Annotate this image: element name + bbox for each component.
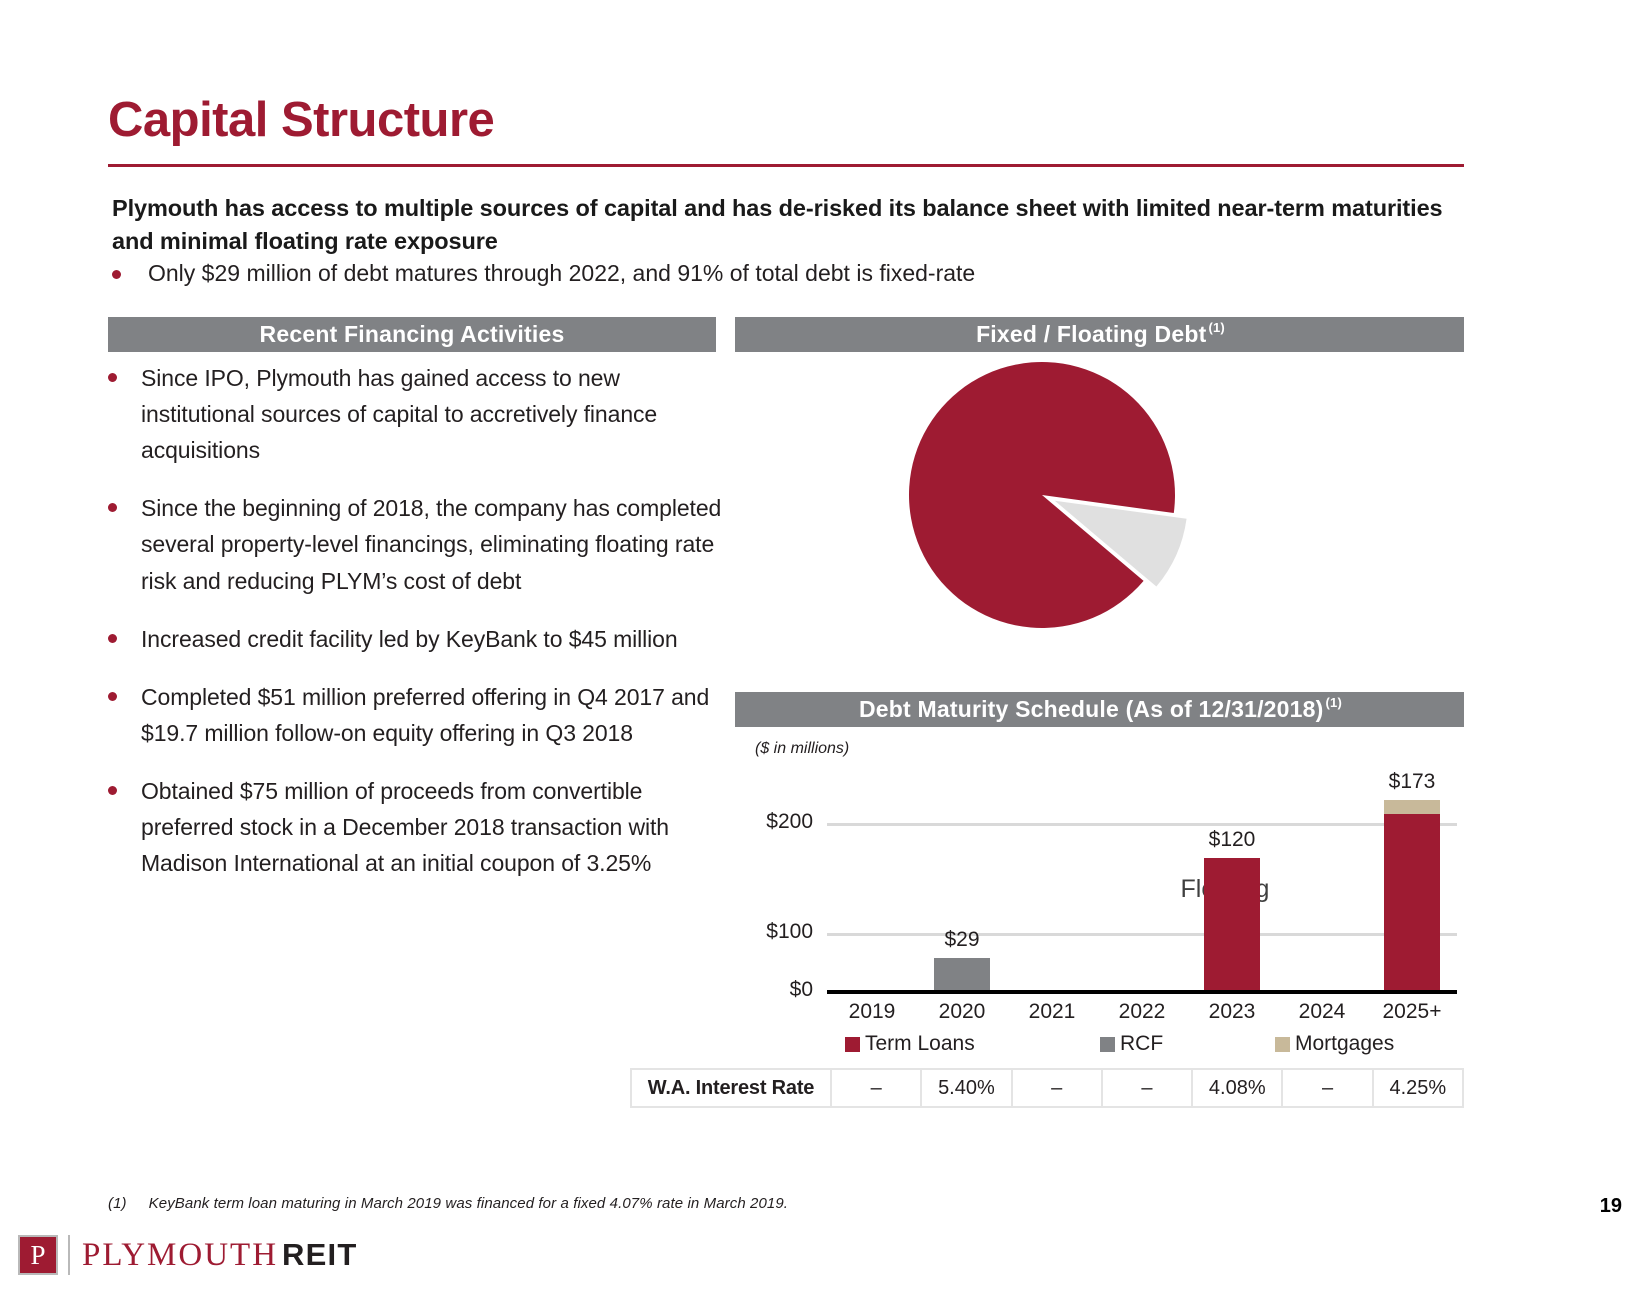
legend-swatch-icon [1100,1037,1115,1052]
fixed-floating-pie-chart: Fixed 91% Floating 9% [735,355,1464,685]
list-item: Obtained $75 million of proceeds from co… [108,773,733,881]
debt-maturity-bar-chart: ($ in millions) $200 $100 $0 $29$120$173… [735,732,1464,1062]
rate-table-cell-2021: – [1013,1070,1103,1106]
legend-item-rcf: RCF [1100,1032,1163,1056]
section-header-label: Recent Financing Activities [260,321,565,348]
subheading: Plymouth has access to multiple sources … [112,192,1457,259]
list-item: Since the beginning of 2018, the company… [108,490,733,598]
list-item: Increased credit facility led by KeyBank… [108,621,733,657]
pie-slice-fixed [909,362,1175,628]
title-divider [108,164,1464,167]
y-axis-tick-200: $200 [735,810,813,834]
x-axis-tick-2019: 2019 [828,1000,916,1024]
bar-segment-mortgages [1384,800,1440,814]
bar-column-2025plus [1368,800,1456,990]
bullet-dot-icon [108,692,117,701]
footnote-marker: (1) [108,1195,127,1212]
bar-value-label-2025plus: $173 [1352,770,1472,794]
y-axis-tick-0: $0 [735,978,813,1002]
section-header-fixed-floating: Fixed / Floating Debt(1) [735,317,1464,352]
x-axis-tick-2024: 2024 [1278,1000,1366,1024]
bar-column-2023 [1188,858,1276,990]
page-title: Capital Structure [108,96,494,145]
y-axis-tick-100: $100 [735,920,813,944]
rate-table-cell-2024: – [1283,1070,1373,1106]
bar-column-2020 [918,958,1006,990]
x-axis-tick-2025plus: 2025+ [1368,1000,1456,1024]
x-axis-line [827,990,1457,994]
bar-value-label-2020: $29 [902,928,1022,952]
bar-segment-term-loans [1204,858,1260,990]
footnote-text: KeyBank term loan maturing in March 2019… [149,1195,788,1212]
list-item-text: Completed $51 million preferred offering… [141,679,733,751]
rate-table-row-label: W.A. Interest Rate [632,1070,832,1106]
list-item-text: Since IPO, Plymouth has gained access to… [141,360,733,468]
section-header-debt-maturity: Debt Maturity Schedule (As of 12/31/2018… [735,692,1464,727]
legend-label: RCF [1120,1032,1163,1056]
headline-bullet-text: Only $29 million of debt matures through… [148,258,975,289]
slide: Capital Structure Plymouth has access to… [0,0,1650,1292]
x-axis-tick-2022: 2022 [1098,1000,1186,1024]
wa-interest-rate-table: W.A. Interest Rate – 5.40% – – 4.08% – 4… [630,1068,1464,1108]
footer-logo: P PLYMOUTH REIT [18,1235,357,1275]
x-axis-tick-2021: 2021 [1008,1000,1096,1024]
chart-units-label: ($ in millions) [755,740,849,758]
recent-financing-list: Since IPO, Plymouth has gained access to… [108,360,733,903]
list-item: Since IPO, Plymouth has gained access to… [108,360,733,468]
bar-segment-rcf [934,958,990,990]
legend-swatch-icon [845,1037,860,1052]
bullet-dot-icon [108,634,117,643]
footnote-superscript: (1) [1326,695,1343,710]
legend-item-mortgages: Mortgages [1275,1032,1394,1056]
logo-primary-text: PLYMOUTH [82,1237,278,1274]
rate-table-cell-2025plus: 4.25% [1374,1070,1462,1106]
rate-table-cell-2020: 5.40% [922,1070,1012,1106]
section-header-label: Fixed / Floating Debt [976,321,1206,348]
logo-mark-icon: P [18,1235,58,1275]
list-item: Completed $51 million preferred offering… [108,679,733,751]
logo-divider [68,1235,70,1275]
legend-item-term-loans: Term Loans [845,1032,975,1056]
section-header-recent-financing: Recent Financing Activities [108,317,716,352]
bullet-dot-icon [108,373,117,382]
pie-chart-svg [735,355,1464,685]
rate-table-cell-2022: – [1103,1070,1193,1106]
headline-bullet: Only $29 million of debt matures through… [112,258,1452,289]
gridline-200 [827,823,1457,826]
bar-segment-term-loans [1384,814,1440,990]
footnote: (1)KeyBank term loan maturing in March 2… [108,1195,788,1212]
list-item-text: Increased credit facility led by KeyBank… [141,621,678,657]
section-header-label: Debt Maturity Schedule (As of 12/31/2018… [859,696,1324,723]
list-item-text: Obtained $75 million of proceeds from co… [141,773,733,881]
page-number: 19 [1600,1195,1622,1218]
list-item-text: Since the beginning of 2018, the company… [141,490,733,598]
x-axis-tick-2023: 2023 [1188,1000,1276,1024]
legend-label: Term Loans [865,1032,975,1056]
rate-table-cell-2023: 4.08% [1193,1070,1283,1106]
rate-table-cell-2019: – [832,1070,922,1106]
bullet-dot-icon [112,270,121,279]
legend-label: Mortgages [1295,1032,1394,1056]
x-axis-tick-2020: 2020 [918,1000,1006,1024]
logo-secondary-text: REIT [282,1237,357,1273]
bullet-dot-icon [108,503,117,512]
bar-value-label-2023: $120 [1172,828,1292,852]
legend-swatch-icon [1275,1037,1290,1052]
footnote-superscript: (1) [1208,320,1225,335]
bullet-dot-icon [108,786,117,795]
